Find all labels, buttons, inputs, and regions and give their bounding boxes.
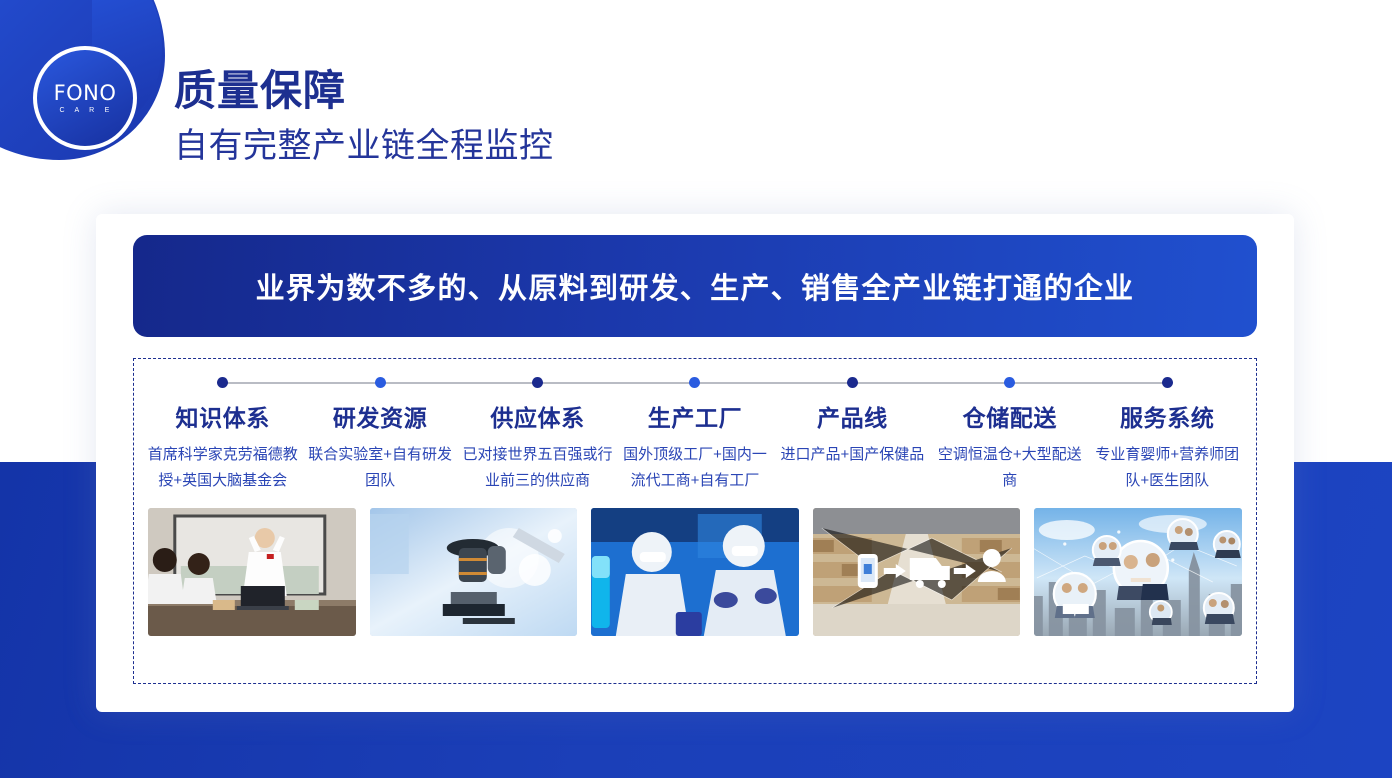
timeline-item-title: 研发资源 bbox=[333, 399, 427, 433]
timeline-item-3[interactable]: 供应体系已对接世界五百强或行业前三的供应商 bbox=[459, 374, 616, 494]
timeline-item-title: 供应体系 bbox=[490, 399, 584, 433]
photo-cleanroom-researchers bbox=[591, 508, 799, 636]
page-subtitle: 自有完整产业链全程监控 bbox=[174, 124, 554, 168]
timeline-connector bbox=[301, 374, 458, 390]
highlight-banner: 业界为数不多的、从原料到研发、生产、销售全产业链打通的企业 bbox=[133, 235, 1257, 337]
timeline-item-2[interactable]: 研发资源联合实验室+自有研发团队 bbox=[301, 374, 458, 494]
value-chain-panel: 知识体系首席科学家克劳福德教授+英国大脑基金会研发资源联合实验室+自有研发团队供… bbox=[133, 358, 1257, 684]
timeline-item-description: 联合实验室+自有研发团队 bbox=[305, 442, 455, 494]
timeline-item-7[interactable]: 服务系统专业育婴师+营养师团队+医生团队 bbox=[1089, 374, 1246, 494]
photo-service-network bbox=[1034, 508, 1242, 636]
timeline-dot-icon bbox=[532, 377, 543, 388]
photo-strip bbox=[144, 508, 1246, 636]
timeline-item-description: 已对接世界五百强或行业前三的供应商 bbox=[463, 442, 613, 494]
timeline-item-title: 生产工厂 bbox=[648, 399, 742, 433]
timeline-connector bbox=[931, 374, 1088, 390]
page-header: 质量保障 自有完整产业链全程监控 bbox=[174, 66, 554, 169]
value-chain-timeline: 知识体系首席科学家克劳福德教授+英国大脑基金会研发资源联合实验室+自有研发团队供… bbox=[144, 374, 1246, 494]
logo-wordmark: FONO bbox=[54, 83, 117, 104]
timeline-item-6[interactable]: 仓储配送空调恒温仓+大型配送商 bbox=[931, 374, 1088, 494]
timeline-item-description: 专业育婴师+营养师团队+医生团队 bbox=[1092, 442, 1242, 494]
photo-lecture-scientist bbox=[148, 508, 356, 636]
timeline-dot-icon bbox=[217, 377, 228, 388]
timeline-item-4[interactable]: 生产工厂国外顶级工厂+国内一流代工商+自有工厂 bbox=[616, 374, 773, 494]
timeline-dot-icon bbox=[1004, 377, 1015, 388]
timeline-connector bbox=[144, 374, 301, 390]
timeline-item-description: 进口产品+国产保健品 bbox=[781, 442, 925, 468]
timeline-item-description: 空调恒温仓+大型配送商 bbox=[935, 442, 1085, 494]
photo-microscope-lab bbox=[370, 508, 578, 636]
page-title: 质量保障 bbox=[174, 66, 554, 116]
timeline-item-title: 知识体系 bbox=[176, 399, 270, 433]
timeline-dot-icon bbox=[375, 377, 386, 388]
timeline-item-description: 首席科学家克劳福德教授+英国大脑基金会 bbox=[148, 442, 298, 494]
logo-tagline: C A R E bbox=[60, 107, 114, 114]
timeline-dot-icon bbox=[689, 377, 700, 388]
timeline-connector bbox=[774, 374, 931, 390]
timeline-item-title: 仓储配送 bbox=[963, 399, 1057, 433]
fono-care-logo[interactable]: FONO C A R E bbox=[33, 46, 137, 150]
content-card: 业界为数不多的、从原料到研发、生产、销售全产业链打通的企业 知识体系首席科学家克… bbox=[96, 214, 1294, 712]
timeline-connector bbox=[616, 374, 773, 390]
highlight-banner-text: 业界为数不多的、从原料到研发、生产、销售全产业链打通的企业 bbox=[256, 265, 1135, 307]
timeline-item-title: 产品线 bbox=[817, 399, 888, 433]
timeline-item-1[interactable]: 知识体系首席科学家克劳福德教授+英国大脑基金会 bbox=[144, 374, 301, 494]
timeline-connector bbox=[1089, 374, 1246, 390]
logo-circle: FONO C A R E bbox=[33, 46, 137, 150]
timeline-dot-icon bbox=[1162, 377, 1173, 388]
timeline-dot-icon bbox=[847, 377, 858, 388]
photo-warehouse-logistics bbox=[813, 508, 1021, 636]
timeline-item-title: 服务系统 bbox=[1120, 399, 1214, 433]
timeline-item-description: 国外顶级工厂+国内一流代工商+自有工厂 bbox=[620, 442, 770, 494]
timeline-item-5[interactable]: 产品线进口产品+国产保健品 bbox=[774, 374, 931, 494]
timeline-connector bbox=[459, 374, 616, 390]
